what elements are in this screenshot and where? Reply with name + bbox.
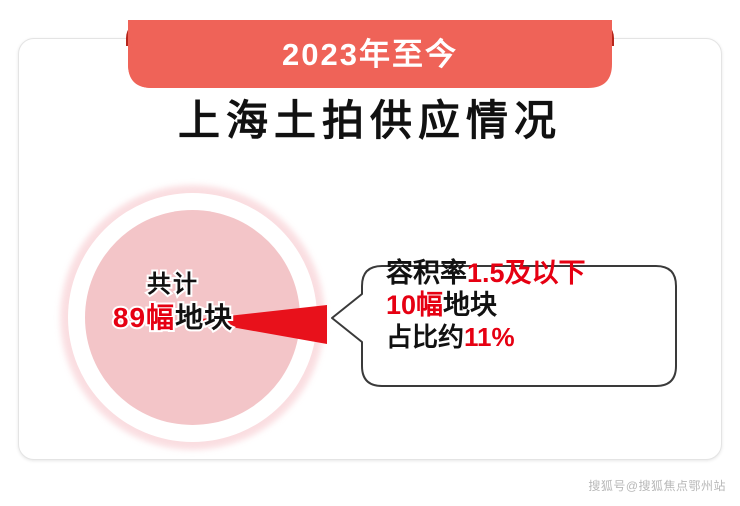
callout-bubble: 容积率1.5及以下 10幅地块 占比约11% <box>330 244 680 394</box>
pie-center-label: 共计 89幅地块 <box>83 272 263 333</box>
ribbon-banner: 2023年至今 <box>0 0 740 110</box>
callout-line-3: 占比约11% <box>386 322 676 353</box>
pie-chart: 共计 89幅地块 <box>55 180 345 465</box>
callout-line-3-value: 11% <box>464 322 515 352</box>
callout-line-2: 10幅地块 <box>386 290 676 322</box>
infographic-root: 2023年至今 上海土拍供应情况 共计 89幅地块 容积率1.5及以下 10幅地… <box>0 0 740 506</box>
banner-label: 2023年至今 <box>0 20 740 88</box>
pie-total-value-row: 89幅地块 <box>83 302 263 333</box>
pie-total-caption: 共计 <box>83 272 263 299</box>
callout-line-2-value: 10幅 <box>386 290 443 320</box>
callout-line-1: 容积率1.5及以下 <box>386 258 676 290</box>
page-title: 上海土拍供应情况 <box>0 96 740 146</box>
pie-total-value: 89幅 <box>113 302 175 333</box>
pie-total-unit: 地块 <box>175 302 233 333</box>
callout-line-3-label: 占比约 <box>386 322 464 352</box>
callout-text-block: 容积率1.5及以下 10幅地块 占比约11% <box>386 258 676 352</box>
watermark-credit: 搜狐号@搜狐焦点鄂州站 <box>588 477 726 494</box>
callout-line-1-value: 1.5及以下 <box>467 258 586 288</box>
callout-line-2-label: 地块 <box>443 290 497 320</box>
callout-line-1-label: 容积率 <box>386 258 467 288</box>
